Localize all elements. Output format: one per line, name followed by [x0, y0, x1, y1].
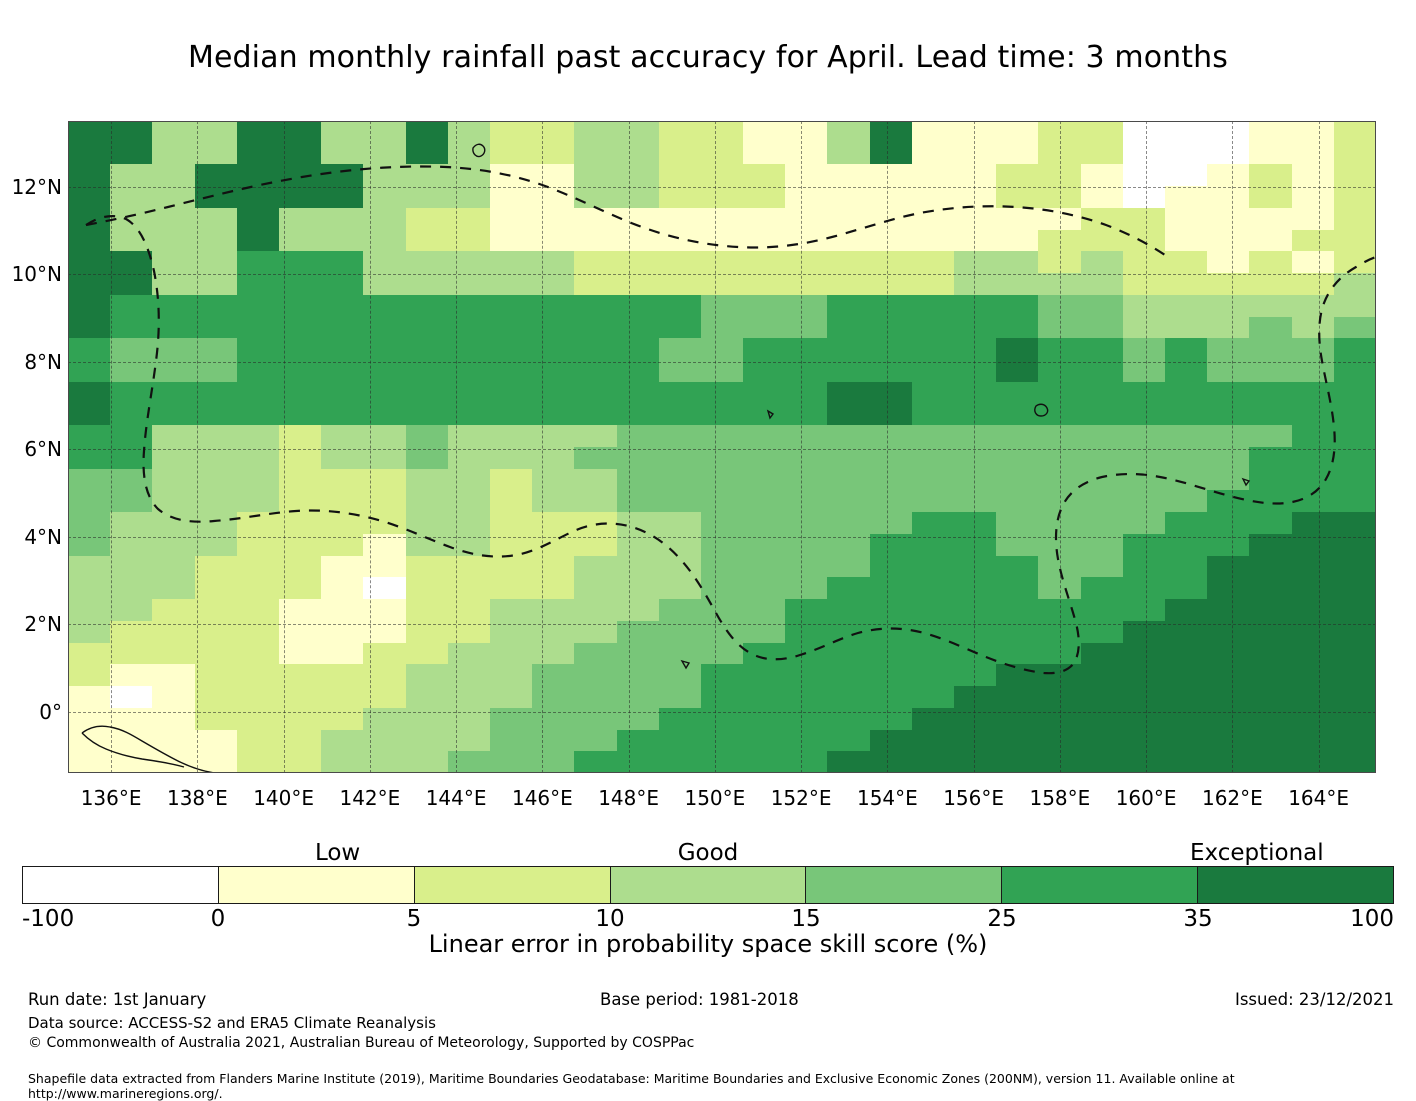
- heatmap-cell: [996, 708, 1039, 730]
- heatmap-cell: [363, 164, 406, 186]
- heatmap-cell: [237, 186, 280, 208]
- heatmap-cell: [785, 317, 828, 339]
- heatmap-cell: [279, 295, 322, 317]
- heatmap-cell: [1207, 599, 1250, 621]
- heatmap-cell: [237, 273, 280, 295]
- heatmap-cell: [68, 599, 111, 621]
- heatmap-cell: [701, 121, 744, 143]
- heatmap-cell: [954, 621, 997, 643]
- heatmap-cell: [1038, 121, 1081, 143]
- heatmap-cell: [237, 143, 280, 165]
- heatmap-cell: [1334, 208, 1376, 230]
- heatmap-cell: [237, 534, 280, 556]
- heatmap-cell: [1038, 751, 1081, 773]
- heatmap-cell: [490, 121, 533, 143]
- heatmap-cell: [1165, 164, 1208, 186]
- heatmap-cell: [1249, 469, 1292, 491]
- heatmap-cell: [237, 317, 280, 339]
- heatmap-cell: [279, 664, 322, 686]
- heatmap-cell: [827, 708, 870, 730]
- heatmap-cell: [954, 273, 997, 295]
- y-axis-tick-label: 2°N: [0, 612, 62, 636]
- heatmap-cell: [110, 273, 153, 295]
- heatmap-cell: [406, 360, 449, 382]
- heatmap-cell: [152, 556, 195, 578]
- heatmap-cell: [1207, 295, 1250, 317]
- heatmap-cell: [1123, 534, 1166, 556]
- heatmap-cell: [870, 230, 913, 252]
- heatmap-cell: [1207, 164, 1250, 186]
- heatmap-cell: [954, 512, 997, 534]
- colorbar-tick-label: 100: [1350, 906, 1394, 932]
- colorbar-segment[interactable]: [219, 867, 415, 903]
- heatmap-cell: [1207, 447, 1250, 469]
- heatmap-cell: [110, 186, 153, 208]
- heatmap-cell: [912, 730, 955, 752]
- heatmap-cell: [1207, 686, 1250, 708]
- heatmap-cell: [785, 730, 828, 752]
- colorbar-tick-label: 0: [211, 906, 226, 932]
- heatmap-cell: [321, 382, 364, 404]
- heatmap-cell: [1165, 273, 1208, 295]
- heatmap-cell: [1165, 664, 1208, 686]
- heatmap-cell: [68, 382, 111, 404]
- heatmap-cell: [1038, 730, 1081, 752]
- heatmap-cell: [1334, 643, 1376, 665]
- heatmap-cell: [1334, 534, 1376, 556]
- footer-data-source: Data source: ACCESS-S2 and ERA5 Climate …: [28, 1014, 436, 1032]
- heatmap-cell: [954, 599, 997, 621]
- heatmap-cell: [1165, 360, 1208, 382]
- heatmap-cell: [617, 404, 660, 426]
- heatmap-cell: [954, 708, 997, 730]
- heatmap-cell: [406, 121, 449, 143]
- heatmap-cell: [406, 643, 449, 665]
- heatmap-cell: [743, 186, 786, 208]
- heatmap-cell: [912, 273, 955, 295]
- heatmap-cell: [659, 186, 702, 208]
- heatmap-cell: [279, 447, 322, 469]
- heatmap-cell: [912, 490, 955, 512]
- heatmap-cell: [574, 534, 617, 556]
- heatmap-cell: [532, 643, 575, 665]
- heatmap-cell: [785, 186, 828, 208]
- heatmap-cell: [363, 121, 406, 143]
- heatmap-cell: [1165, 295, 1208, 317]
- heatmap-cell: [701, 230, 744, 252]
- heatmap-cell: [743, 643, 786, 665]
- heatmap-cell: [574, 621, 617, 643]
- colorbar-segment[interactable]: [23, 867, 219, 903]
- heatmap-cell: [532, 621, 575, 643]
- heatmap-cell: [363, 708, 406, 730]
- heatmap-cell: [152, 251, 195, 273]
- heatmap-cell: [152, 708, 195, 730]
- heatmap-cell: [279, 643, 322, 665]
- heatmap-cell: [743, 599, 786, 621]
- heatmap-cell: [1123, 599, 1166, 621]
- heatmap-cell: [785, 664, 828, 686]
- heatmap-cell: [1081, 708, 1124, 730]
- heatmap-cell: [68, 730, 111, 752]
- heatmap-cell: [152, 447, 195, 469]
- heatmap-cell: [870, 751, 913, 773]
- heatmap-cell: [1123, 208, 1166, 230]
- heatmap-cell: [490, 273, 533, 295]
- heatmap-cell: [195, 382, 238, 404]
- colorbar-segment[interactable]: [1198, 867, 1393, 903]
- heatmap-cell: [912, 143, 955, 165]
- heatmap-cell: [448, 556, 491, 578]
- heatmap-cell: [827, 295, 870, 317]
- heatmap-cell: [1038, 643, 1081, 665]
- heatmap-cell: [785, 251, 828, 273]
- heatmap-cell: [68, 273, 111, 295]
- heatmap-cell: [1207, 643, 1250, 665]
- heatmap-cell: [490, 230, 533, 252]
- heatmap-cell: [448, 121, 491, 143]
- heatmap-cell: [1292, 621, 1335, 643]
- heatmap-cell: [912, 447, 955, 469]
- heatmap-cell: [996, 360, 1039, 382]
- heatmap-cell: [954, 534, 997, 556]
- heatmap-cell: [1207, 230, 1250, 252]
- colorbar[interactable]: [22, 866, 1394, 904]
- heatmap-cell: [701, 469, 744, 491]
- heatmap-cell: [1165, 208, 1208, 230]
- heatmap-cell: [996, 686, 1039, 708]
- heatmap-cell: [279, 338, 322, 360]
- heatmap-cell: [1249, 143, 1292, 165]
- heatmap-cell: [1123, 425, 1166, 447]
- heatmap-cell: [659, 295, 702, 317]
- heatmap-cell: [785, 534, 828, 556]
- heatmap-cell: [152, 382, 195, 404]
- heatmap-cell: [701, 273, 744, 295]
- heatmap-cell: [1207, 273, 1250, 295]
- footer-base-period: Base period: 1981-2018: [600, 990, 799, 1009]
- heatmap-cell: [532, 317, 575, 339]
- heatmap-cell: [659, 599, 702, 621]
- heatmap-cell: [574, 447, 617, 469]
- heatmap-cell: [785, 404, 828, 426]
- heatmap-cell: [1038, 208, 1081, 230]
- heatmap-cell: [1207, 664, 1250, 686]
- heatmap-cell: [321, 338, 364, 360]
- heatmap-cell: [1292, 686, 1335, 708]
- heatmap-cell: [912, 599, 955, 621]
- heatmap-cell: [659, 425, 702, 447]
- heatmap-cell: [870, 251, 913, 273]
- heatmap-cell: [1292, 230, 1335, 252]
- heatmap-cell: [785, 621, 828, 643]
- heatmap-cell: [490, 447, 533, 469]
- heatmap-cell: [870, 208, 913, 230]
- heatmap-cell: [701, 556, 744, 578]
- heatmap-cell: [1334, 730, 1376, 752]
- heatmap-cell: [827, 404, 870, 426]
- heatmap-cell: [1207, 143, 1250, 165]
- heatmap-cell: [870, 447, 913, 469]
- heatmap-cell: [490, 621, 533, 643]
- heatmap-cell: [363, 404, 406, 426]
- heatmap-cell: [195, 556, 238, 578]
- heatmap-cell: [490, 708, 533, 730]
- heatmap-cell: [1123, 664, 1166, 686]
- heatmap-cell: [912, 338, 955, 360]
- heatmap-cell: [785, 469, 828, 491]
- heatmap-cell: [996, 751, 1039, 773]
- heatmap-cell: [954, 490, 997, 512]
- heatmap-cell: [996, 664, 1039, 686]
- heatmap-cell: [617, 338, 660, 360]
- heatmap-cell: [1334, 143, 1376, 165]
- heatmap-cell: [1038, 164, 1081, 186]
- heatmap-cell: [448, 751, 491, 773]
- heatmap-cell: [659, 686, 702, 708]
- heatmap-cell: [1292, 317, 1335, 339]
- x-axis-tick-label: 138°E: [167, 786, 228, 810]
- heatmap-cell: [617, 751, 660, 773]
- heatmap-cell: [1038, 534, 1081, 556]
- colorbar-segment[interactable]: [806, 867, 1002, 903]
- heatmap-cell: [1123, 447, 1166, 469]
- heatmap-cell: [1165, 643, 1208, 665]
- heatmap-cell: [1334, 121, 1376, 143]
- heatmap-cell: [490, 643, 533, 665]
- heatmap-cell: [279, 556, 322, 578]
- heatmap-cell: [363, 664, 406, 686]
- heatmap-cell: [406, 317, 449, 339]
- heatmap-cell: [68, 186, 111, 208]
- heatmap-cell: [448, 251, 491, 273]
- heatmap-cell: [279, 490, 322, 512]
- heatmap-cell: [279, 404, 322, 426]
- heatmap-cell: [406, 425, 449, 447]
- y-axis-tick-label: 10°N: [0, 262, 62, 286]
- heatmap-cell: [912, 317, 955, 339]
- heatmap-cell: [1165, 121, 1208, 143]
- heatmap-cell: [448, 599, 491, 621]
- heatmap-cell: [237, 708, 280, 730]
- heatmap-cell: [1081, 686, 1124, 708]
- heatmap-cell: [1081, 751, 1124, 773]
- heatmap-cell: [195, 708, 238, 730]
- heatmap-cell: [1123, 556, 1166, 578]
- heatmap-cell: [321, 164, 364, 186]
- heatmap-cell: [363, 143, 406, 165]
- heatmap-cell: [448, 534, 491, 556]
- heatmap-cell: [1081, 164, 1124, 186]
- heatmap-cell: [617, 621, 660, 643]
- heatmap-cell: [1123, 251, 1166, 273]
- heatmap-cell: [996, 295, 1039, 317]
- heatmap-cell: [785, 382, 828, 404]
- heatmap-cell: [1334, 164, 1376, 186]
- heatmap-cell: [1207, 490, 1250, 512]
- heatmap-cell: [110, 425, 153, 447]
- heatmap-cell: [532, 338, 575, 360]
- heatmap-cell: [448, 230, 491, 252]
- heatmap-cell: [406, 338, 449, 360]
- heatmap-cell: [827, 251, 870, 273]
- heatmap-cell: [363, 295, 406, 317]
- heatmap-cell: [363, 643, 406, 665]
- heatmap-cell: [152, 577, 195, 599]
- heatmap-cell: [237, 295, 280, 317]
- heatmap-cell: [1207, 708, 1250, 730]
- heatmap-cell: [1165, 708, 1208, 730]
- heatmap-cell: [954, 295, 997, 317]
- heatmap-cell: [1207, 382, 1250, 404]
- heatmap-cell: [659, 404, 702, 426]
- colorbar-segment[interactable]: [415, 867, 611, 903]
- heatmap-cell: [912, 643, 955, 665]
- heatmap-cell: [448, 621, 491, 643]
- heatmap-cell: [195, 621, 238, 643]
- heatmap-cell: [701, 404, 744, 426]
- heatmap-cell: [321, 295, 364, 317]
- heatmap-cell: [870, 273, 913, 295]
- heatmap-cell: [363, 534, 406, 556]
- heatmap-cell: [912, 186, 955, 208]
- heatmap-cell: [1123, 382, 1166, 404]
- heatmap-cell: [110, 643, 153, 665]
- heatmap-cell: [954, 317, 997, 339]
- heatmap-cell: [321, 751, 364, 773]
- heatmap-cell: [1081, 208, 1124, 230]
- heatmap-cell: [363, 751, 406, 773]
- heatmap-cell: [406, 708, 449, 730]
- heatmap-cell: [659, 208, 702, 230]
- heatmap-cell: [701, 708, 744, 730]
- heatmap-cell: [237, 425, 280, 447]
- heatmap-cell: [448, 730, 491, 752]
- heatmap-cell: [532, 360, 575, 382]
- heatmap-cell: [827, 360, 870, 382]
- heatmap-cell: [912, 664, 955, 686]
- heatmap-cell: [68, 643, 111, 665]
- heatmap-cell: [195, 512, 238, 534]
- heatmap-cell: [785, 164, 828, 186]
- heatmap-cell: [279, 382, 322, 404]
- heatmap-cell: [1081, 490, 1124, 512]
- x-axis-tick-label: 140°E: [253, 786, 314, 810]
- heatmap-cell: [490, 577, 533, 599]
- heatmap-cell: [1081, 534, 1124, 556]
- heatmap-cell: [701, 295, 744, 317]
- heatmap-cell: [743, 534, 786, 556]
- heatmap-cell: [912, 404, 955, 426]
- heatmap-cell: [490, 664, 533, 686]
- heatmap-cell: [574, 556, 617, 578]
- heatmap-cell: [1249, 751, 1292, 773]
- heatmap-cell: [363, 621, 406, 643]
- heatmap-cell: [1334, 556, 1376, 578]
- heatmap-cell: [1123, 273, 1166, 295]
- heatmap-cell: [743, 164, 786, 186]
- heatmap-cell: [574, 469, 617, 491]
- heatmap-cell: [659, 143, 702, 165]
- heatmap-cell: [912, 230, 955, 252]
- heatmap-cell: [1249, 708, 1292, 730]
- colorbar-segment[interactable]: [611, 867, 807, 903]
- heatmap-cell: [321, 599, 364, 621]
- heatmap-cell: [1292, 534, 1335, 556]
- heatmap-cell: [1292, 730, 1335, 752]
- heatmap-cell: [1038, 686, 1081, 708]
- heatmap-cell: [996, 556, 1039, 578]
- heatmap-cell: [743, 447, 786, 469]
- heatmap-cell: [532, 164, 575, 186]
- heatmap-cell: [1334, 664, 1376, 686]
- heatmap-cell: [617, 447, 660, 469]
- heatmap-cell: [321, 534, 364, 556]
- heatmap-cell: [785, 643, 828, 665]
- heatmap-cell: [406, 382, 449, 404]
- heatmap-cell: [1038, 404, 1081, 426]
- heatmap-cell: [1249, 643, 1292, 665]
- heatmap-cell: [279, 186, 322, 208]
- heatmap-cell: [1165, 230, 1208, 252]
- heatmap-cell: [532, 577, 575, 599]
- heatmap-cell: [743, 512, 786, 534]
- heatmap-cell: [827, 599, 870, 621]
- heatmap-cell: [785, 686, 828, 708]
- heatmap-cell: [574, 208, 617, 230]
- footer-run-date: Run date: 1st January: [28, 990, 206, 1009]
- heatmap-cell: [617, 143, 660, 165]
- heatmap-cell: [532, 447, 575, 469]
- heatmap-cell: [490, 534, 533, 556]
- heatmap-cell: [1165, 577, 1208, 599]
- heatmap-cell: [870, 121, 913, 143]
- heatmap-cell: [912, 121, 955, 143]
- heatmap-cell: [785, 295, 828, 317]
- colorbar-segment[interactable]: [1002, 867, 1198, 903]
- heatmap-cell: [1207, 338, 1250, 360]
- x-axis-tick-label: 164°E: [1288, 786, 1349, 810]
- heatmap-cell: [448, 664, 491, 686]
- heatmap-cell: [996, 621, 1039, 643]
- heatmap-cell: [1081, 599, 1124, 621]
- heatmap-cell: [279, 230, 322, 252]
- heatmap-cell: [321, 143, 364, 165]
- heatmap-cell: [237, 664, 280, 686]
- heatmap-cell: [1081, 143, 1124, 165]
- heatmap-cell: [996, 643, 1039, 665]
- heatmap-cell: [195, 490, 238, 512]
- heatmap-cell: [1334, 447, 1376, 469]
- y-axis-tick-label: 8°N: [0, 350, 62, 374]
- heatmap-cell: [1123, 164, 1166, 186]
- heatmap-cell: [1292, 490, 1335, 512]
- heatmap-cell: [1165, 686, 1208, 708]
- colorbar-gradient[interactable]: [22, 866, 1394, 904]
- heatmap-cell: [996, 121, 1039, 143]
- heatmap-cell: [110, 317, 153, 339]
- heatmap-cell: [743, 425, 786, 447]
- heatmap-cell: [1207, 469, 1250, 491]
- heatmap-cell: [1123, 708, 1166, 730]
- heatmap-cell: [1292, 447, 1335, 469]
- heatmap-cell: [996, 382, 1039, 404]
- heatmap-cell: [279, 143, 322, 165]
- heatmap-cell: [701, 447, 744, 469]
- heatmap-cell: [279, 251, 322, 273]
- heatmap-cell: [532, 512, 575, 534]
- heatmap-cell: [68, 143, 111, 165]
